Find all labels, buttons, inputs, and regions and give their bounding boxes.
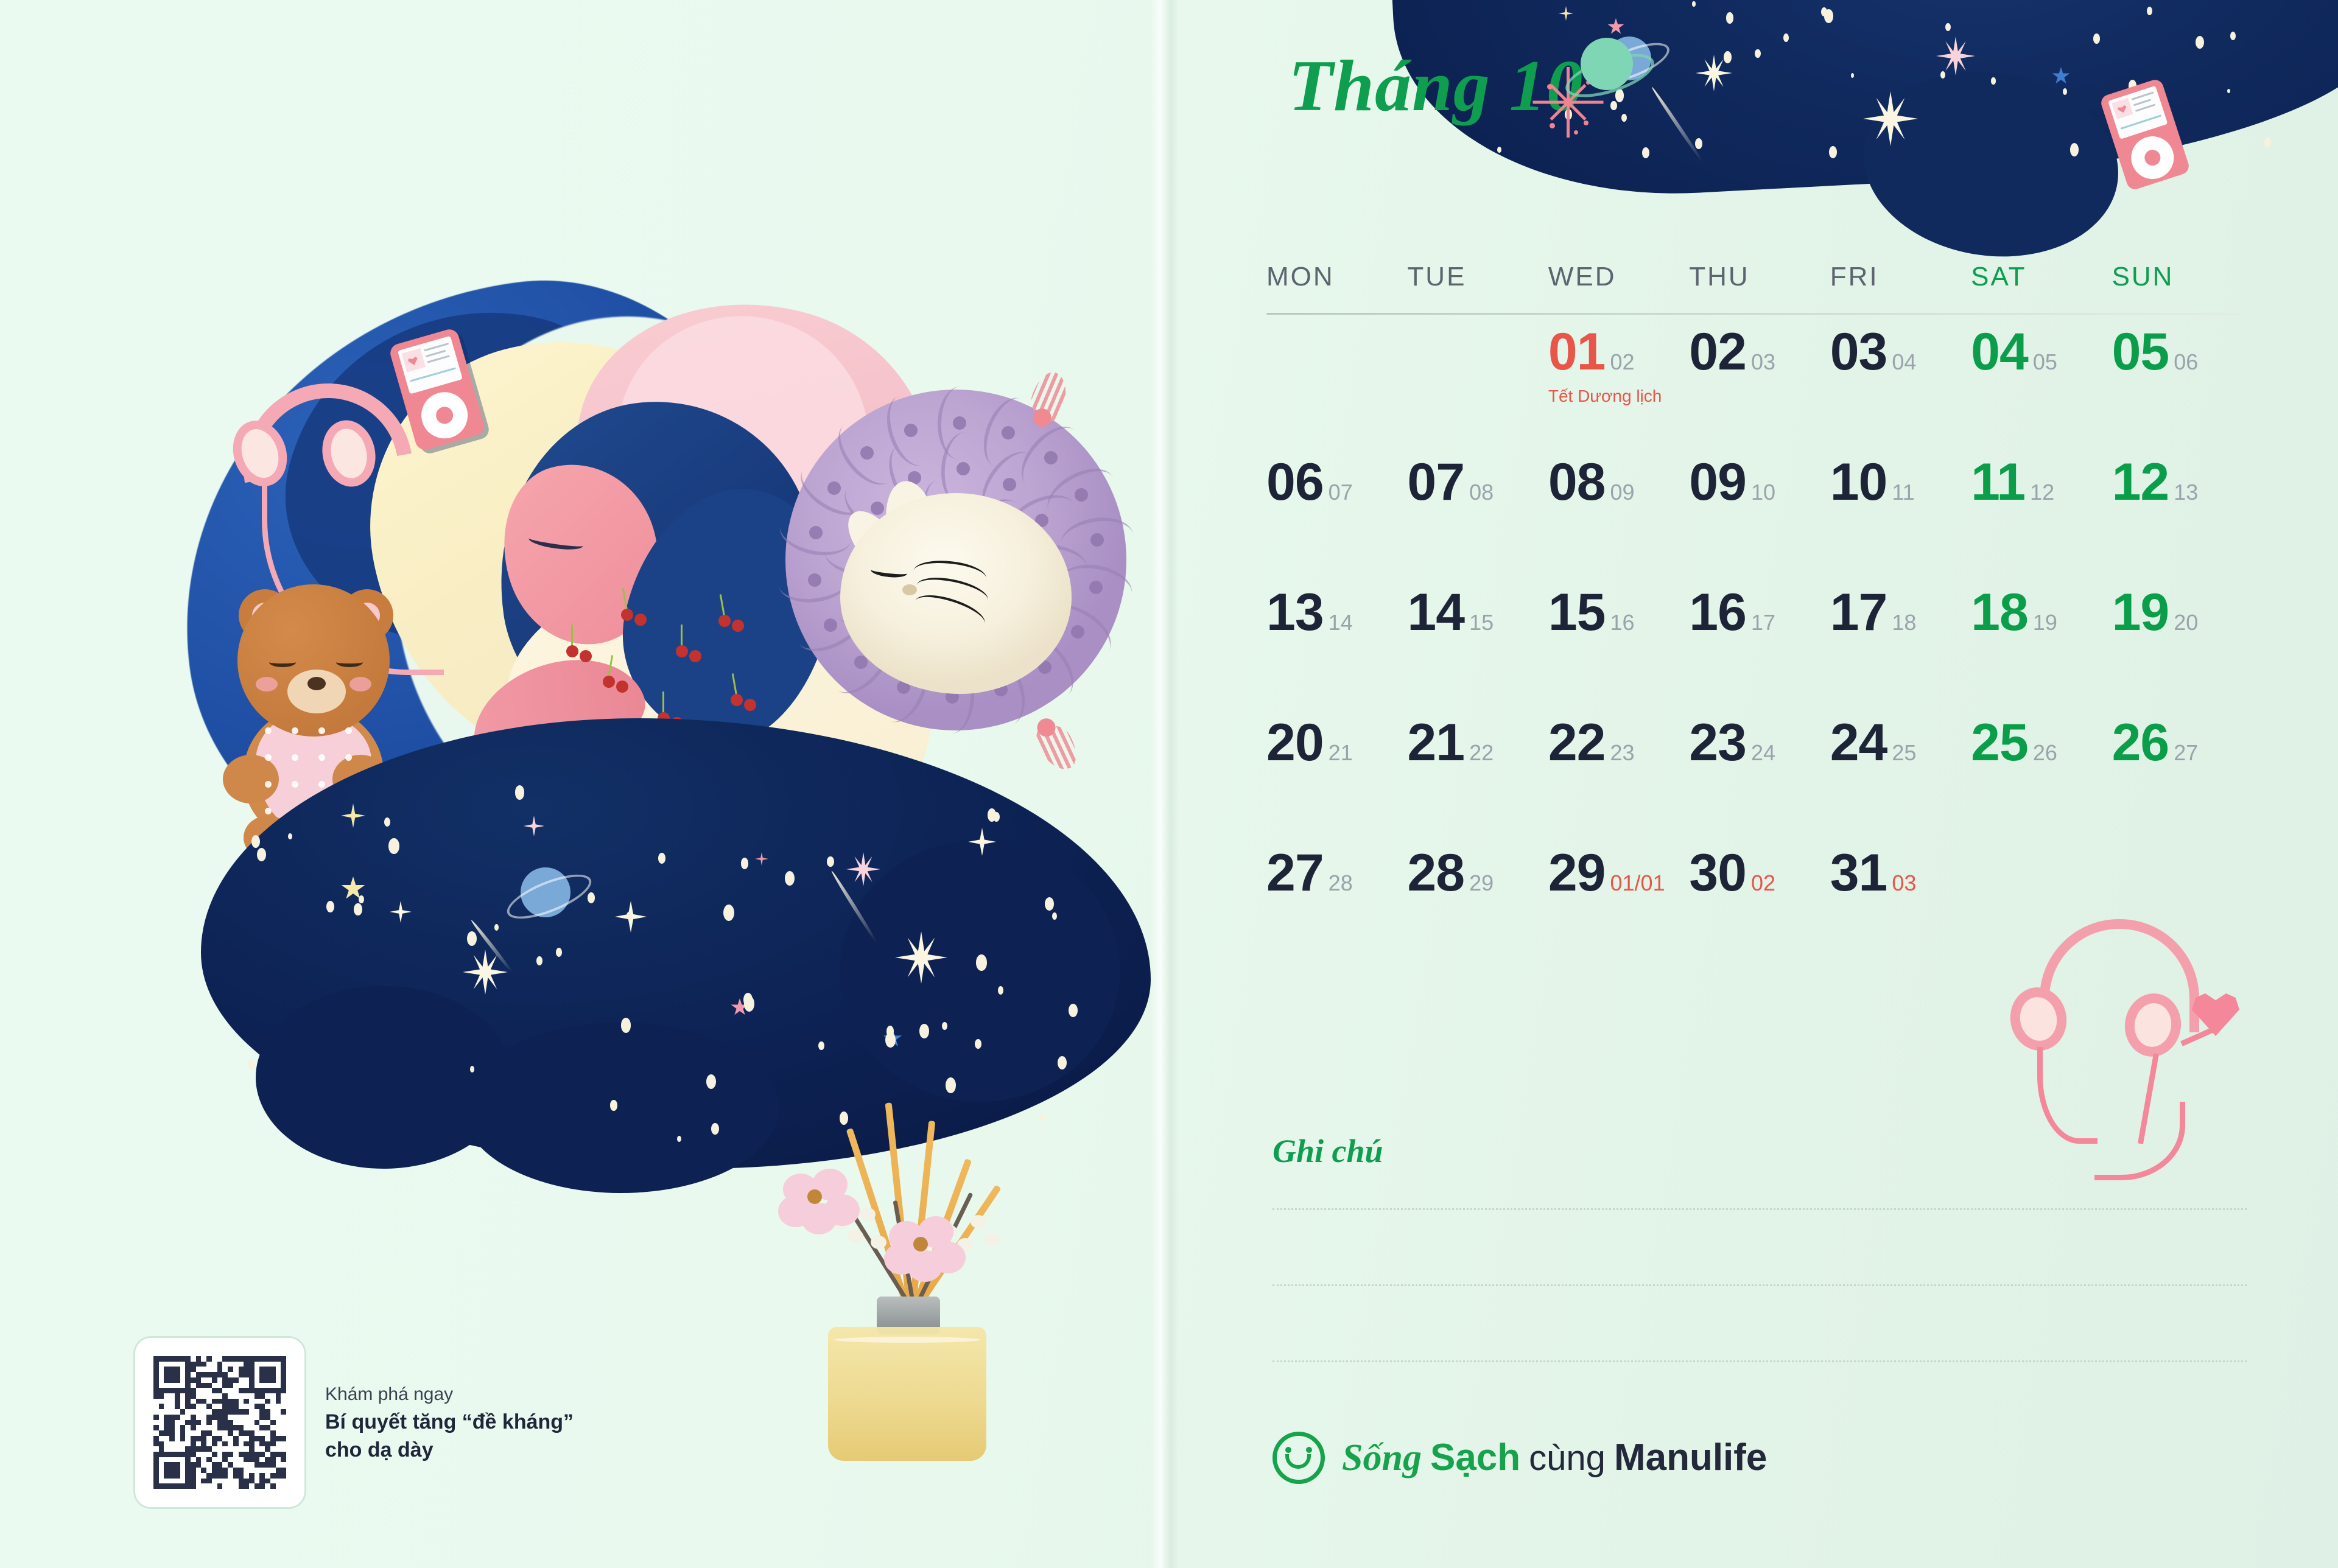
qr-promo-text: Khám phá ngay Bí quyết tăng “đề kháng” c… xyxy=(325,1381,574,1464)
day-cell-15[interactable]: 1516 xyxy=(1548,586,1689,716)
headphones-decoration xyxy=(1997,919,2277,1175)
teddy-paw-left xyxy=(223,755,279,803)
day-cell-30[interactable]: 3002 xyxy=(1689,847,1830,977)
bib-dot xyxy=(345,727,352,734)
day-number: 09 xyxy=(1689,456,1746,508)
star-dot xyxy=(1069,1004,1078,1017)
star-dot xyxy=(388,838,399,854)
star-dot xyxy=(942,1022,947,1030)
note-line-3[interactable] xyxy=(1273,1360,2247,1362)
teddy-eye-right xyxy=(336,657,363,667)
lunar-date: 12 xyxy=(2030,481,2054,503)
bib-dot xyxy=(265,781,272,788)
lunar-date: 02 xyxy=(1610,351,1635,373)
star-dot xyxy=(1040,1113,1045,1121)
brand-word-manulife: Manulife xyxy=(1614,1437,1767,1479)
lunar-date: 23 xyxy=(1610,742,1635,764)
day-number: 11 xyxy=(1971,456,2025,508)
weekday-tue: TUE xyxy=(1407,262,1548,292)
day-number: 28 xyxy=(1407,847,1464,899)
cat-nose xyxy=(902,584,917,595)
cherry xyxy=(566,645,578,657)
day-number: 22 xyxy=(1548,716,1606,769)
star-dot xyxy=(621,1018,631,1033)
brand-footer: SốngSạchcùngManulife xyxy=(1273,1432,1767,1484)
calendar-grid: MONTUEWEDTHUFRISATSUN 0102Tết Dương lịch… xyxy=(1266,262,2253,977)
day-cell-06[interactable]: 0607 xyxy=(1266,456,1407,586)
calendar-spread: Khám phá ngay Bí quyết tăng “đề kháng” c… xyxy=(0,0,2338,1568)
day-number: 18 xyxy=(1971,586,2028,639)
day-number: 15 xyxy=(1548,586,1606,639)
day-number: 16 xyxy=(1689,586,1746,639)
day-number: 05 xyxy=(2112,326,2169,378)
star-dot xyxy=(494,924,499,931)
star-dot xyxy=(988,808,996,821)
day-number: 20 xyxy=(1266,716,1324,769)
weekday-sat: SAT xyxy=(1971,262,2112,292)
illustration-panel: Khám phá ngay Bí quyết tăng “đề kháng” c… xyxy=(0,0,1157,1568)
star-dot xyxy=(627,912,632,920)
headphone-wire-join xyxy=(2094,1102,2185,1180)
day-cell-22[interactable]: 2223 xyxy=(1548,716,1689,847)
lunar-date: 09 xyxy=(1610,481,1635,503)
star-dot xyxy=(1052,912,1057,920)
day-cell-19[interactable]: 1920 xyxy=(2112,586,2253,716)
teddy-head xyxy=(237,584,390,737)
star-dot xyxy=(1945,23,1951,31)
blossom-bud xyxy=(860,1208,876,1221)
day-number: 04 xyxy=(1971,326,2028,378)
teddy-nose xyxy=(307,677,326,690)
night-sky-lobe-bottom xyxy=(463,1023,779,1193)
day-number: 14 xyxy=(1407,586,1464,639)
qr-promo-block[interactable]: Khám phá ngay Bí quyết tăng “đề kháng” c… xyxy=(135,1338,574,1507)
cherry xyxy=(732,620,744,632)
lunar-date: 25 xyxy=(1892,742,1916,764)
star-dot xyxy=(248,1059,255,1070)
star-dot xyxy=(706,1074,716,1089)
lunar-date: 11 xyxy=(1892,481,1914,503)
qr-card[interactable] xyxy=(135,1338,304,1507)
star-dot xyxy=(886,1026,894,1037)
day-cell-02[interactable]: 0203 xyxy=(1689,326,1830,456)
lunar-date: 01/01 xyxy=(1610,872,1665,894)
day-number: 13 xyxy=(1266,586,1324,639)
star-dot xyxy=(1991,77,1995,84)
day-cell-17[interactable]: 1718 xyxy=(1830,586,1971,716)
cherry xyxy=(616,681,628,693)
day-cell-empty xyxy=(1407,326,1548,456)
day-cell-12[interactable]: 1213 xyxy=(2112,456,2253,586)
cherry-stem xyxy=(681,625,683,646)
day-number: 26 xyxy=(2112,716,2169,769)
day-cell-24[interactable]: 2425 xyxy=(1830,716,1971,847)
header-rule xyxy=(1266,313,2241,315)
week-row: 0102Tết Dương lịch0203030404050506 xyxy=(1266,326,2253,456)
bib-dot xyxy=(265,754,272,761)
blossom-bud xyxy=(984,1233,1000,1247)
qr-promo-line3: cho dạ dày xyxy=(325,1436,574,1464)
lunar-date: 22 xyxy=(1469,742,1494,764)
star-dot xyxy=(467,931,477,946)
cherry-stem xyxy=(662,691,664,713)
day-number: 31 xyxy=(1830,847,1887,899)
cherry xyxy=(621,609,633,621)
star-dot xyxy=(1724,51,1732,63)
day-cell-05[interactable]: 0506 xyxy=(2112,326,2253,456)
star-dot xyxy=(1755,49,1761,58)
star-dot xyxy=(827,856,834,867)
star-dot xyxy=(1829,146,1837,158)
smiley-face-icon xyxy=(1273,1432,1325,1484)
star-dot xyxy=(919,1024,929,1038)
star-dot xyxy=(975,1039,981,1049)
weekday-sun: SUN xyxy=(2112,262,2253,292)
star-dot xyxy=(723,905,734,921)
day-cell-07[interactable]: 0708 xyxy=(1407,456,1548,586)
lunar-date: 26 xyxy=(2033,742,2057,764)
star-dot xyxy=(2093,33,2100,44)
bib-dot xyxy=(318,754,325,761)
day-number: 07 xyxy=(1407,456,1464,508)
day-number: 29 xyxy=(1548,847,1606,899)
qr-code-icon[interactable] xyxy=(153,1356,286,1489)
star-dot xyxy=(677,1136,681,1142)
note-line-1[interactable] xyxy=(1273,1208,2247,1210)
day-number: 10 xyxy=(1830,456,1887,508)
star-dot xyxy=(1497,147,1501,153)
lunar-date: 15 xyxy=(1469,612,1494,634)
star-dot xyxy=(354,903,362,915)
day-cell-14[interactable]: 1415 xyxy=(1407,586,1548,716)
sparkle-dot xyxy=(1574,130,1578,135)
day-cell-29[interactable]: 2901/01 xyxy=(1548,847,1689,977)
day-cell-20[interactable]: 2021 xyxy=(1266,716,1407,847)
lunar-date: 20 xyxy=(2174,612,2198,634)
week-row: 1314141515161617171818191920 xyxy=(1266,586,2253,716)
bib-dot xyxy=(292,781,298,788)
day-cell-31[interactable]: 3103 xyxy=(1830,847,1971,977)
star-dot xyxy=(2264,138,2271,147)
star-dot xyxy=(1851,73,1854,78)
cherry-blossom-right xyxy=(884,1215,963,1282)
day-cell-09[interactable]: 0910 xyxy=(1689,456,1830,586)
day-number: 19 xyxy=(2112,586,2169,639)
star-dot xyxy=(515,785,525,799)
lunar-date: 07 xyxy=(1329,481,1353,503)
star-dot xyxy=(1783,33,1789,42)
night-sky-lobe-right xyxy=(840,840,1120,1102)
bib-dot xyxy=(345,754,352,761)
teddy-snout xyxy=(287,670,346,713)
day-cell-10[interactable]: 1011 xyxy=(1830,456,1971,586)
star-dot xyxy=(2196,36,2204,49)
star-dot xyxy=(818,1041,824,1050)
day-number: 02 xyxy=(1689,326,1746,378)
star-dot xyxy=(998,986,1003,995)
weekday-mon: MON xyxy=(1266,262,1407,292)
lunar-date: 04 xyxy=(1892,351,1916,373)
bib-dot xyxy=(318,781,325,788)
day-cell-11[interactable]: 1112 xyxy=(1971,456,2112,586)
star-dot xyxy=(1692,1,1695,6)
star-dot xyxy=(588,892,595,903)
sparkle-dot xyxy=(1547,84,1553,89)
notes-label: Ghi chú xyxy=(1273,1132,1383,1170)
day-cell-01[interactable]: 0102Tết Dương lịch xyxy=(1548,326,1689,456)
day-number: 01 xyxy=(1548,326,1606,378)
lunar-date: 19 xyxy=(2033,612,2057,634)
day-number: 21 xyxy=(1407,716,1464,769)
qr-promo-line2: Bí quyết tăng “đề kháng” xyxy=(325,1408,574,1436)
day-cell-28[interactable]: 2829 xyxy=(1407,847,1548,977)
star-dot xyxy=(743,993,753,1007)
note-line-2[interactable] xyxy=(1273,1284,2247,1286)
star-dot xyxy=(359,895,364,903)
day-cell-26[interactable]: 2627 xyxy=(2112,716,2253,847)
bib-dot xyxy=(292,754,298,761)
cherry xyxy=(744,699,756,711)
star-dot xyxy=(840,1111,849,1125)
brand-word-sach: Sạch xyxy=(1430,1437,1520,1479)
teddy-eye-left xyxy=(269,657,296,667)
lunar-date: 06 xyxy=(2174,351,2198,373)
calendar-panel: Tháng 10 MONTUEWEDTHUFRISATSUN 0102Tết D… xyxy=(1181,0,2338,1568)
day-cell-27[interactable]: 2728 xyxy=(1266,847,1407,977)
lunar-date: 14 xyxy=(1329,612,1353,634)
headphone-wire-left xyxy=(2037,1047,2098,1144)
weekday-thu: THU xyxy=(1689,262,1830,292)
lunar-date: 03 xyxy=(1751,351,1775,373)
lunar-date: 13 xyxy=(2174,481,2198,503)
cherry xyxy=(603,676,615,688)
bib-dot xyxy=(265,808,272,814)
star-dot xyxy=(326,901,334,912)
cherry xyxy=(580,650,592,662)
star-dot xyxy=(1621,114,1627,122)
lunar-date: 28 xyxy=(1329,872,1353,894)
lunar-date: 18 xyxy=(1892,612,1916,634)
lunar-date: 27 xyxy=(2174,742,2198,764)
lunar-date: 05 xyxy=(2033,351,2057,373)
cherry xyxy=(718,615,731,627)
day-number: 25 xyxy=(1971,716,2028,769)
star-dot xyxy=(976,954,987,970)
day-cell-13[interactable]: 1314 xyxy=(1266,586,1407,716)
bib-dot xyxy=(265,727,272,734)
week-rows: 0102Tết Dương lịch0203030404050506060707… xyxy=(1266,326,2253,977)
day-cell-18[interactable]: 1819 xyxy=(1971,586,2112,716)
weekday-fri: FRI xyxy=(1830,262,1971,292)
lunar-date: 02 xyxy=(1751,872,1775,894)
bib-dot xyxy=(292,727,298,734)
lunar-date: 10 xyxy=(1751,481,1775,503)
weekday-wed: WED xyxy=(1548,262,1689,292)
day-number: 24 xyxy=(1830,716,1887,769)
holiday-note: Tết Dương lịch xyxy=(1548,387,1689,406)
star-dot xyxy=(257,848,266,862)
day-number: 06 xyxy=(1266,456,1324,508)
day-number: 12 xyxy=(2112,456,2169,508)
day-cell-21[interactable]: 2122 xyxy=(1407,716,1548,847)
bib-dot xyxy=(318,727,325,734)
lunar-date: 29 xyxy=(1469,872,1494,894)
cherry-blossom-left xyxy=(778,1167,857,1234)
day-number: 03 xyxy=(1830,326,1887,378)
day-cell-16[interactable]: 1617 xyxy=(1689,586,1830,716)
sparkle-dot xyxy=(1550,123,1555,128)
star-dot xyxy=(288,833,292,839)
star-dot xyxy=(741,858,749,869)
day-cell-23[interactable]: 2324 xyxy=(1689,716,1830,847)
lunar-date: 16 xyxy=(1610,612,1635,634)
cherry xyxy=(676,645,688,657)
page-fold-divider xyxy=(1151,0,1179,1568)
day-number: 17 xyxy=(1830,586,1887,639)
week-row: 0607070808090910101111121213 xyxy=(1266,456,2253,586)
cherry xyxy=(731,694,743,706)
brand-word-cung: cùng xyxy=(1529,1438,1606,1478)
day-number: 23 xyxy=(1689,716,1746,769)
day-number: 08 xyxy=(1548,456,1606,508)
day-number: 27 xyxy=(1266,847,1324,899)
star-dot xyxy=(1726,12,1734,24)
star-dot xyxy=(610,1100,617,1110)
day-cell-08[interactable]: 0809 xyxy=(1548,456,1689,586)
teddy-cheek-right xyxy=(349,677,371,691)
star-dot xyxy=(785,871,795,886)
star-dot xyxy=(536,956,542,965)
day-number: 30 xyxy=(1689,847,1746,899)
brand-lockup: SốngSạchcùngManulife xyxy=(1342,1436,1767,1480)
lunar-date: 03 xyxy=(1892,872,1916,894)
day-cell-03[interactable]: 0304 xyxy=(1830,326,1971,456)
qr-promo-line1: Khám phá ngay xyxy=(325,1381,574,1408)
day-cell-25[interactable]: 2526 xyxy=(1971,716,2112,847)
cherry-stem xyxy=(571,625,573,646)
lunar-date: 17 xyxy=(1751,612,1775,634)
star-dot xyxy=(1045,897,1054,911)
star-dot xyxy=(1695,138,1702,149)
teddy-cheek-left xyxy=(256,677,278,691)
brand-word-song: Sống xyxy=(1342,1437,1422,1479)
lunar-date: 24 xyxy=(1751,742,1775,764)
sparkle-dot xyxy=(1584,121,1589,125)
lunar-date: 08 xyxy=(1469,481,1494,503)
diffuser-jar xyxy=(828,1327,986,1461)
star-dot xyxy=(2230,32,2236,40)
day-cell-04[interactable]: 0405 xyxy=(1971,326,2112,456)
lunar-date: 21 xyxy=(1329,742,1353,764)
star-dot xyxy=(658,853,665,864)
week-row: 2021212222232324242525262627 xyxy=(1266,716,2253,847)
weekday-header-row: MONTUEWEDTHUFRISATSUN xyxy=(1266,262,2253,292)
tassel-bottom xyxy=(1019,697,1084,777)
day-cell-empty xyxy=(1266,326,1407,456)
blossom-bud xyxy=(971,1215,986,1228)
cherry xyxy=(689,650,701,662)
cherry xyxy=(634,614,647,626)
